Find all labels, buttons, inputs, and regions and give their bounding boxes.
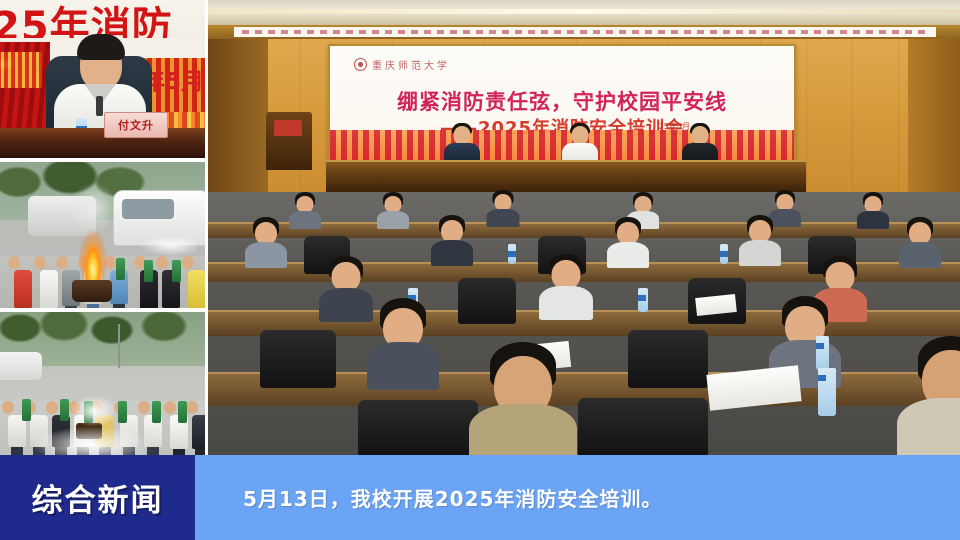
water-bottle: [818, 368, 836, 416]
audience-body: [539, 286, 593, 320]
audience-person: [538, 260, 594, 316]
audience-chair: [628, 330, 708, 388]
room-ceiling: [208, 0, 960, 26]
photo3-person-head: [164, 401, 176, 414]
caption-body: 5月13日，我校开展2025年消防安全培训。: [195, 455, 960, 540]
photo1-banner-text: 25年消防: [0, 0, 173, 38]
audience-body: [367, 342, 439, 390]
photo1-microphone: [96, 96, 103, 116]
audience-body: [739, 240, 781, 266]
audience-person: [430, 220, 474, 264]
photo2-extinguisher-spray: [111, 230, 197, 264]
university-logo: 重庆师范大学: [354, 57, 450, 72]
photo3-street-lamp: [118, 324, 120, 368]
photo3-person-head: [46, 401, 58, 414]
university-emblem-icon: [354, 58, 367, 71]
photo-group-extinguisher-drill: [0, 312, 205, 455]
audience-person: [468, 352, 578, 455]
photo1-backdrop-banner: 25年消防: [0, 0, 205, 38]
audience-body: [899, 242, 941, 268]
photo2-person-body: [14, 270, 32, 308]
photo2-flame: [74, 212, 112, 286]
photo2-person-legs: [65, 306, 77, 308]
photo1-table: [0, 128, 205, 158]
left-photo-column: 25年消防 5年5月 付文升: [0, 0, 205, 455]
photo3-person-head: [138, 401, 150, 414]
photo3-white-van: [0, 352, 42, 380]
photo3-person-head: [2, 401, 14, 414]
room-overhead-banner-cloth: [234, 27, 936, 37]
photo2-person-body: [188, 270, 205, 308]
audience-body: [897, 398, 960, 455]
room-wall-left-panel: [208, 39, 268, 215]
audience-body: [469, 404, 577, 455]
photo2-person-head: [56, 256, 68, 269]
photo2-fire-pan: [72, 280, 112, 302]
audience-chair: [458, 278, 516, 324]
audience-person: [606, 222, 650, 266]
water-bottle: [816, 336, 829, 370]
photo2-person-legs: [113, 304, 125, 308]
photo-outdoor-fire-drill: [0, 162, 205, 308]
audience-person: [738, 220, 782, 264]
audience-person: [366, 306, 440, 382]
water-bottle: [720, 244, 728, 264]
ceiling-light-strip: [208, 9, 960, 14]
audience-body: [319, 288, 373, 322]
speaker-podium: [266, 112, 312, 170]
audience-chair: [358, 400, 478, 455]
caption-category-badge[interactable]: 综合新闻: [0, 455, 195, 540]
audience-person: [898, 222, 942, 266]
room-overhead-banner: [208, 25, 960, 39]
photo-speaker-at-head-table: 25年消防 5年5月 付文升: [0, 0, 205, 158]
audience-body: [431, 240, 473, 266]
photo2-person-body: [40, 270, 58, 308]
water-bottle: [508, 244, 516, 264]
audience-body: [245, 242, 287, 268]
audience-chair: [260, 330, 336, 388]
audience-chair: [578, 398, 708, 455]
university-logo-text: 重庆师范大学: [372, 57, 450, 72]
audience-person: [486, 194, 520, 224]
audience-body: [377, 211, 409, 229]
photo-training-conference-room: 重庆师范大学 绷紧消防责任弦，守护校园平安线 ——2025年消防安全培训会 25…: [208, 0, 960, 455]
photo3-foam-ground: [20, 415, 195, 455]
water-bottle: [638, 288, 648, 312]
caption-category-label: 综合新闻: [32, 475, 164, 520]
news-photo-layout: 25年消防 5年5月 付文升: [0, 0, 960, 540]
photo1-nameplate: 付文升: [104, 112, 168, 138]
screen-title: 绷紧消防责任弦，守护校园平安线: [330, 86, 794, 116]
photo2-person-head: [34, 256, 46, 269]
audience-body: [857, 211, 889, 229]
audience-person: [856, 196, 890, 226]
photo1-person-hair: [77, 34, 125, 60]
audience-body: [487, 209, 520, 227]
audience-person: [244, 222, 288, 266]
audience-body: [289, 211, 321, 229]
caption-text: 5月13日，我校开展2025年消防安全培训。: [243, 483, 662, 512]
audience-person: [376, 196, 410, 226]
head-table: [326, 160, 806, 192]
photo2-person-legs: [87, 304, 99, 308]
audience-person: [288, 196, 322, 226]
photo1-nameplate-text: 付文升: [118, 117, 154, 133]
audience-person: [896, 346, 960, 455]
caption-bar: 综合新闻 5月13日，我校开展2025年消防安全培训。: [0, 455, 960, 540]
photo2-person-head: [8, 256, 20, 269]
audience-body: [607, 242, 649, 268]
photo3-person-head: [186, 401, 198, 414]
room-wall-right-panel: [908, 39, 960, 215]
